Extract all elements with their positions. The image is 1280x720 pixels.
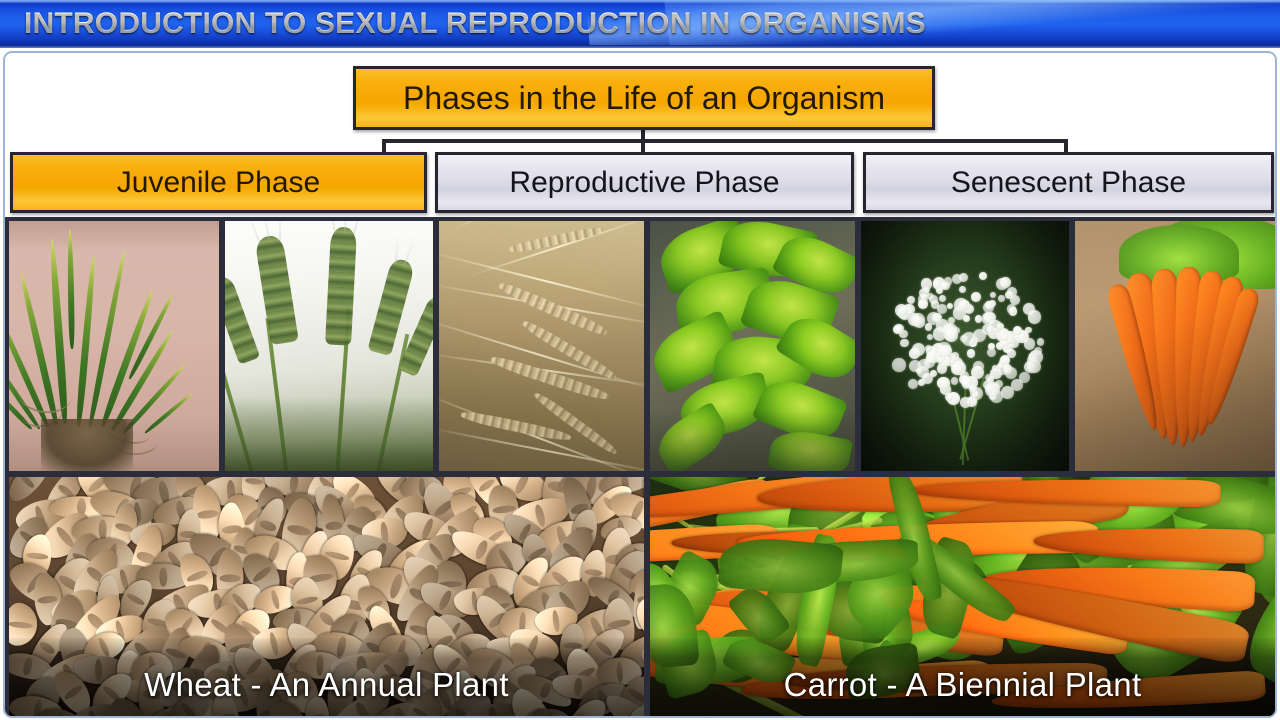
photo-carrot-bunch: Carrot - A Biennial Plant (650, 477, 1275, 716)
wheat-grain (7, 601, 39, 647)
gallery-image-wheat-reproductive[interactable] (223, 219, 435, 473)
photo-dry-golden-wheat (439, 221, 644, 471)
phase-box-juvenile[interactable]: Juvenile Phase (10, 152, 427, 213)
photo-green-wheat-ears (225, 221, 433, 471)
image-gallery: Wheat - An Annual Plant Carrot - A Bienn… (5, 217, 1277, 718)
photo-harvested-carrots (1075, 221, 1275, 471)
gallery-image-wheat-grains[interactable]: Wheat - An Annual Plant (7, 475, 646, 718)
banner-bottom-edge (0, 45, 1280, 48)
connector-branch-left (382, 139, 386, 152)
photo-wheat-grains: Wheat - An Annual Plant (9, 477, 644, 716)
gallery-image-carrot-bunch[interactable]: Carrot - A Biennial Plant (648, 475, 1277, 718)
photo-carrot-foliage (650, 221, 855, 471)
phase-label-senescent: Senescent Phase (951, 166, 1186, 200)
banner-top-edge (0, 0, 1280, 3)
title-banner: INTRODUCTION TO SEXUAL REPRODUCTION IN O… (0, 0, 1280, 48)
phase-box-senescent[interactable]: Senescent Phase (863, 152, 1274, 213)
slide-root: INTRODUCTION TO SEXUAL REPRODUCTION IN O… (0, 0, 1280, 720)
photo-young-wheat-seedling (9, 221, 219, 471)
gallery-image-wheat-senescent[interactable] (437, 219, 646, 473)
connector-horizontal (382, 139, 1068, 143)
phase-label-reproductive: Reproductive Phase (509, 166, 779, 200)
content-panel: Phases in the Life of an Organism Juveni… (3, 51, 1277, 718)
gallery-image-carrot-juvenile[interactable] (648, 219, 857, 473)
slide-title: INTRODUCTION TO SEXUAL REPRODUCTION IN O… (24, 7, 926, 41)
diagram-root-box[interactable]: Phases in the Life of an Organism (353, 66, 935, 130)
phase-box-reproductive[interactable]: Reproductive Phase (435, 152, 854, 213)
phase-label-juvenile: Juvenile Phase (117, 166, 320, 200)
gallery-image-carrot-reproductive[interactable] (859, 219, 1071, 473)
photo-carrot-umbel-flowers (861, 221, 1069, 471)
diagram-root-label: Phases in the Life of an Organism (403, 80, 885, 117)
connector-branch-right (1064, 139, 1068, 152)
gallery-image-carrot-senescent[interactable] (1073, 219, 1277, 473)
gallery-image-wheat-juvenile[interactable] (7, 219, 221, 473)
